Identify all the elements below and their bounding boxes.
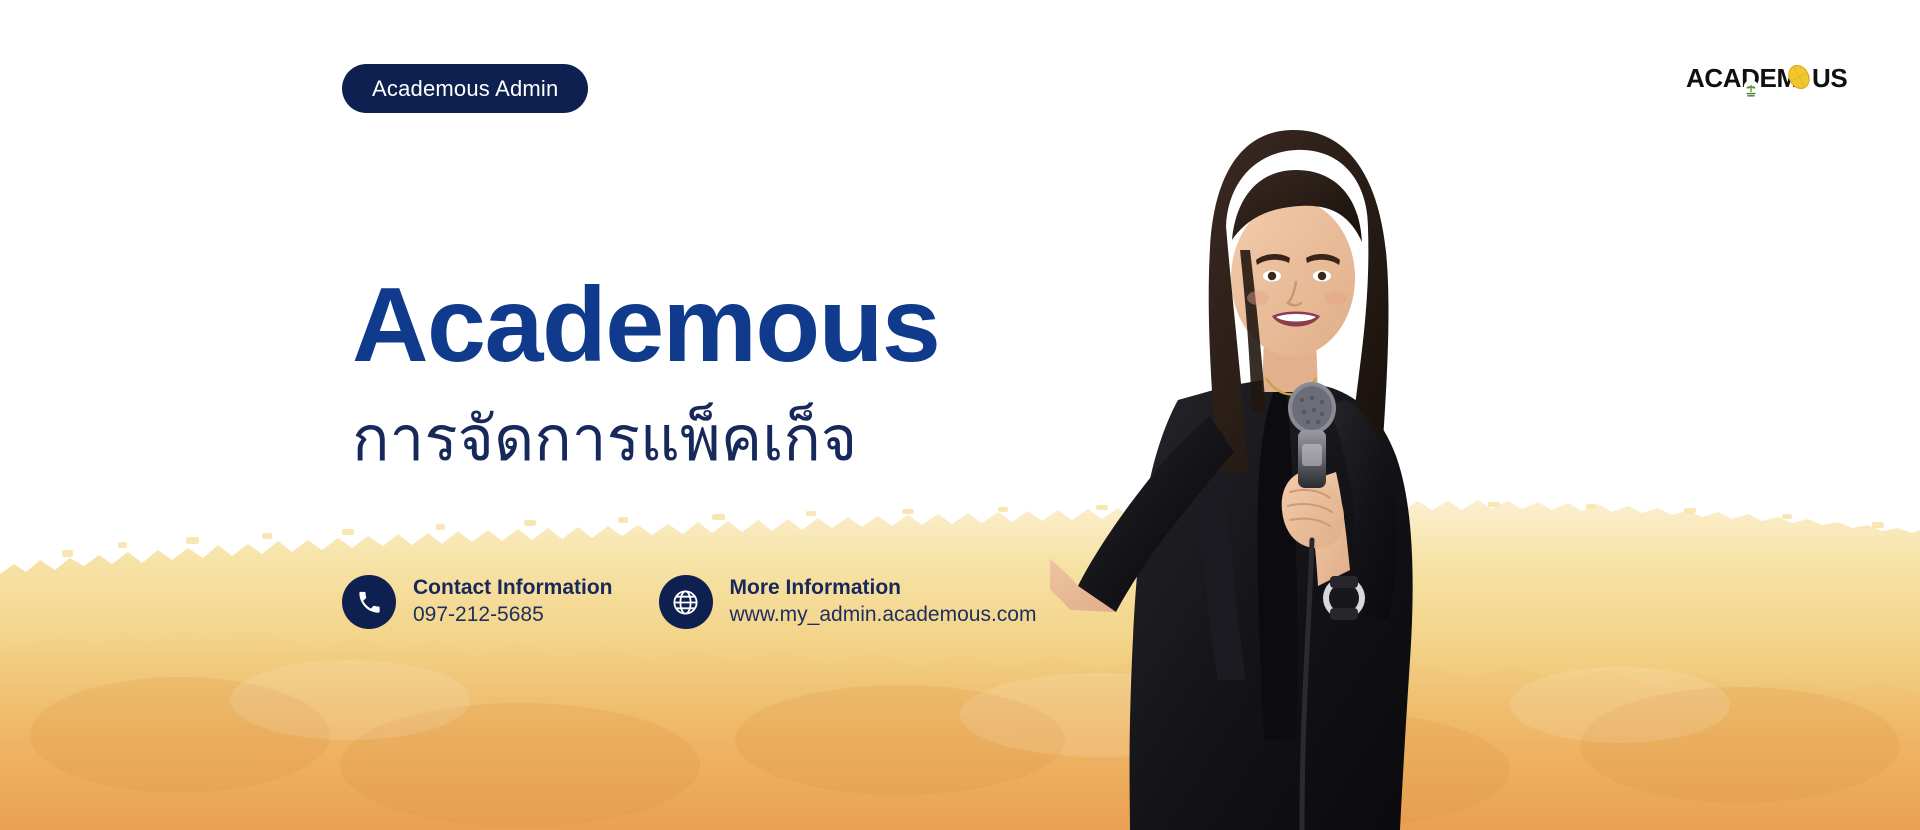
contact-block-phone[interactable]: Contact Information 097-212-5685 [342, 575, 613, 629]
contact-title-phone: Contact Information [413, 575, 613, 602]
page-title: Academous [352, 272, 939, 378]
logo-bulb-icon [1744, 80, 1758, 96]
watercolor-background [0, 500, 1920, 830]
globe-icon [659, 575, 713, 629]
presenter-image [1050, 100, 1530, 830]
page-subtitle: การจัดการแพ็คเก็จ [352, 404, 857, 475]
contact-block-website[interactable]: More Information www.my_admin.academous.… [659, 575, 1037, 629]
logo-text-right: US [1812, 63, 1847, 93]
banner-stage: Academous Admin ACADEM US ACADEMOUS [0, 0, 1920, 830]
contact-title-website: More Information [730, 575, 1037, 602]
admin-badge[interactable]: Academous Admin [342, 64, 588, 113]
contact-row: Contact Information 097-212-5685 More In… [342, 575, 1036, 629]
phone-icon [342, 575, 396, 629]
contact-value-website: www.my_admin.academous.com [730, 602, 1037, 629]
contact-value-phone: 097-212-5685 [413, 602, 613, 629]
logo-text-left: ACADEM [1686, 63, 1798, 93]
academous-logo[interactable]: ACADEM US ACADEMOUS [1686, 62, 1858, 96]
